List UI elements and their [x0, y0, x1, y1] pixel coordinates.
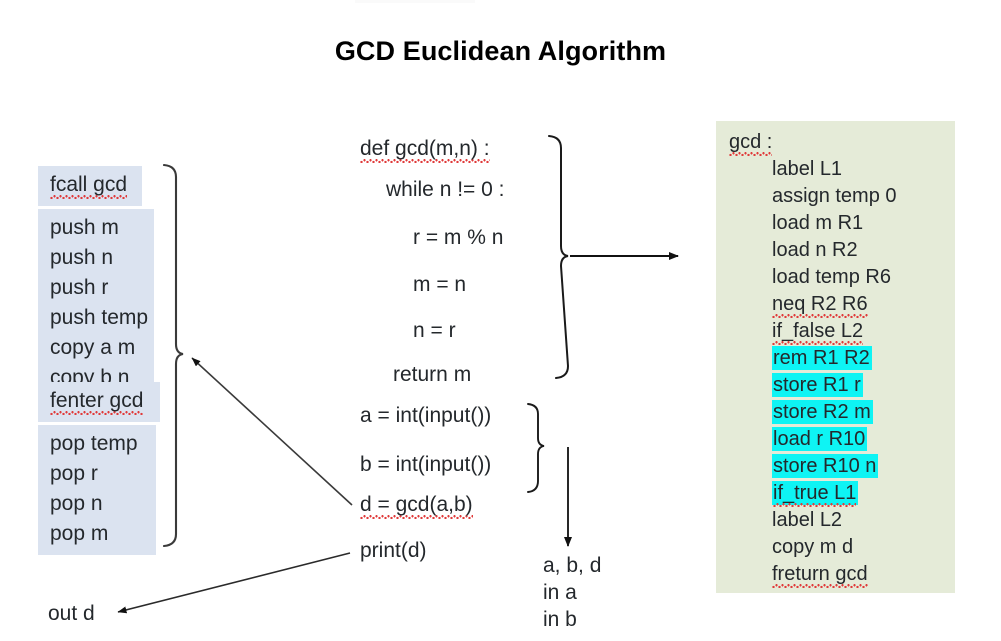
code-text: assign temp 0: [772, 185, 897, 207]
code-text: if_true L1: [773, 482, 856, 507]
code-text: store R10 n: [773, 455, 876, 477]
python-line: def gcd(m,n) :: [360, 136, 490, 162]
arrow-call-to-stack: [192, 358, 352, 505]
code-text: out d: [48, 602, 95, 625]
python-line: d = gcd(a,b): [360, 492, 473, 518]
code-text: store R2 m: [773, 401, 871, 423]
stack-line: push r: [50, 273, 144, 303]
code-text: print(d): [360, 539, 427, 562]
page-title: GCD Euclidean Algorithm: [0, 36, 1001, 67]
assembly-line: store R2 m: [716, 399, 955, 426]
stack-block-fcall-block: fcall gcd: [38, 166, 142, 206]
code-text: r = m % n: [413, 226, 503, 249]
assembly-line-text: freturn gcd: [772, 563, 868, 588]
code-text: push temp: [50, 306, 148, 329]
stack-line: fenter gcd: [50, 386, 150, 416]
code-text: load m R1: [772, 212, 863, 234]
brace-function-body: [549, 136, 568, 378]
python-line: n = r: [413, 318, 456, 344]
assembly-line: label L2: [716, 507, 955, 534]
code-text: rem R1 R2: [773, 347, 870, 369]
stack-line: push temp: [50, 303, 144, 333]
code-text: load r R10: [773, 428, 865, 450]
assembly-line-text: label L2: [772, 509, 842, 531]
stack-line: copy a m: [50, 333, 144, 363]
assembly-line-text: load temp R6: [772, 266, 891, 288]
assembly-line: load r R10: [716, 426, 955, 453]
assembly-line: load n R2: [716, 237, 955, 264]
code-text: gcd :: [729, 131, 772, 156]
code-text: def gcd(m,n) :: [360, 137, 490, 163]
io-note-line: in b: [543, 606, 601, 633]
assembly-line: freturn gcd: [716, 561, 955, 588]
assembly-line: rem R1 R2: [716, 345, 955, 372]
assembly-header: gcd :: [716, 121, 955, 156]
stack-block-fenter-block: fenter gcd: [38, 382, 160, 422]
code-text: pop temp: [50, 432, 138, 455]
python-line: print(d): [360, 538, 427, 564]
stack-block-push-block: push mpush npush rpush tempcopy a mcopy …: [38, 209, 154, 399]
io-note-line: in a: [543, 579, 601, 606]
stack-line: pop n: [50, 489, 146, 519]
python-line: a = int(input()): [360, 403, 491, 429]
code-text: while n != 0 :: [386, 178, 504, 201]
assembly-line-text: load n R2: [772, 239, 858, 261]
code-text: a = int(input()): [360, 404, 491, 427]
code-text: push r: [50, 276, 108, 299]
python-line: m = n: [413, 272, 466, 298]
slide-canvas: GCD Euclidean Algorithm fcall gcdpush mp…: [0, 0, 1001, 641]
assembly-line: copy m d: [716, 534, 955, 561]
code-text: if_false L2: [772, 320, 863, 345]
code-text: n = r: [413, 319, 456, 342]
stack-line: fcall gcd: [50, 170, 132, 200]
assembly-line: neq R2 R6: [716, 291, 955, 318]
code-text: return m: [393, 363, 471, 386]
assembly-line: load temp R6: [716, 264, 955, 291]
assembly-line: if_false L2: [716, 318, 955, 345]
code-text: push m: [50, 216, 119, 239]
code-text: freturn gcd: [772, 563, 868, 588]
assembly-listing-panel: gcd :label L1assign temp 0load m R1load …: [716, 121, 955, 593]
assembly-line-text: assign temp 0: [772, 185, 897, 207]
python-line: return m: [393, 362, 471, 388]
assembly-line-text: load m R1: [772, 212, 863, 234]
brace-inputs: [528, 404, 544, 492]
brace-stack-frame: [164, 165, 183, 546]
assembly-line: assign temp 0: [716, 183, 955, 210]
python-line: b = int(input()): [360, 452, 491, 478]
top-edge-artifact: [355, 0, 475, 3]
assembly-line-text: store R10 n: [772, 454, 878, 478]
stack-line: pop r: [50, 459, 146, 489]
code-text: neq R2 R6: [772, 293, 868, 318]
stack-line: pop m: [50, 519, 146, 549]
code-text: store R1 r: [773, 374, 861, 396]
assembly-line-text: copy m d: [772, 536, 853, 558]
code-text: pop n: [50, 492, 103, 515]
code-text: d = gcd(a,b): [360, 493, 473, 519]
arrow-print-to-out: [118, 553, 350, 612]
python-line: while n != 0 :: [386, 177, 504, 203]
code-text: fenter gcd: [50, 389, 143, 415]
code-text: fcall gcd: [50, 173, 127, 199]
code-text: label L1: [772, 158, 842, 180]
stack-block-pop-block: pop temppop rpop npop m: [38, 425, 156, 555]
code-text: b = int(input()): [360, 453, 491, 476]
assembly-line: load m R1: [716, 210, 955, 237]
assembly-line: store R10 n: [716, 453, 955, 480]
io-note-line: a, b, d: [543, 552, 601, 579]
python-line: r = m % n: [413, 225, 503, 251]
assembly-line-text: load r R10: [772, 427, 867, 451]
stack-line: push n: [50, 243, 144, 273]
io-note: a, b, din ain b: [543, 552, 601, 633]
assembly-line-text: store R1 r: [772, 373, 863, 397]
code-text: copy a m: [50, 336, 135, 359]
assembly-line-text: if_true L1: [772, 481, 858, 505]
code-text: push n: [50, 246, 113, 269]
code-text: pop m: [50, 522, 108, 545]
assembly-line: if_true L1: [716, 480, 955, 507]
code-text: load temp R6: [772, 266, 891, 288]
assembly-line-text: rem R1 R2: [772, 346, 872, 370]
code-text: copy m d: [772, 536, 853, 558]
stack-line: push m: [50, 213, 144, 243]
assembly-line: store R1 r: [716, 372, 955, 399]
assembly-line-text: store R2 m: [772, 400, 873, 424]
code-text: label L2: [772, 509, 842, 531]
assembly-line-text: neq R2 R6: [772, 293, 868, 318]
code-text: load n R2: [772, 239, 858, 261]
code-text: m = n: [413, 273, 466, 296]
output-label: out d: [48, 600, 95, 627]
assembly-line-text: if_false L2: [772, 320, 863, 345]
assembly-line-text: label L1: [772, 158, 842, 180]
assembly-line: label L1: [716, 156, 955, 183]
code-text: pop r: [50, 462, 98, 485]
stack-line: pop temp: [50, 429, 146, 459]
